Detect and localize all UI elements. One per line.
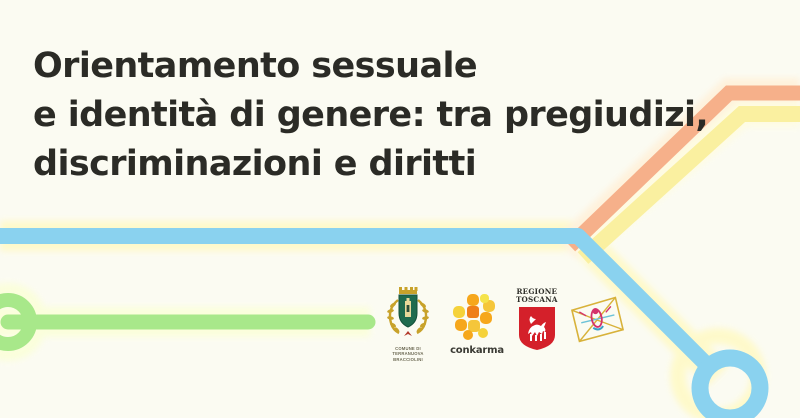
title-line-2: e identità di genere: tra pregiudizi, <box>33 91 673 140</box>
partner-rete-icon <box>569 296 625 344</box>
poster-canvas: Orientamento sessuale e identità di gene… <box>0 0 800 418</box>
logo-comune-terranuova-bracciolini: COMUNE DI TERRANUOVA BRACCIOLINI <box>378 286 438 362</box>
regione-toscana-wordmark: REGIONE TOSCANA <box>516 288 558 304</box>
conkarma-puzzle-icon <box>449 292 505 344</box>
green-route-line <box>0 300 368 344</box>
logo-partner-rete <box>569 286 625 344</box>
comune-crest-icon <box>378 286 438 344</box>
regione-toscana-shield-icon <box>518 306 556 351</box>
logo-regione-toscana: REGIONE TOSCANA <box>516 286 558 351</box>
title-line-1: Orientamento sessuale <box>33 42 673 91</box>
page-title: Orientamento sessuale e identità di gene… <box>33 42 673 189</box>
logo-conkarma: conkarma <box>449 286 505 356</box>
logo-comune-caption: COMUNE DI TERRANUOVA BRACCIOLINI <box>378 346 438 362</box>
conkarma-wordmark: conkarma <box>450 345 504 356</box>
sponsor-logo-row: COMUNE DI TERRANUOVA BRACCIOLINI con <box>378 286 625 366</box>
title-line-3: discriminazioni e diritti <box>33 140 673 189</box>
